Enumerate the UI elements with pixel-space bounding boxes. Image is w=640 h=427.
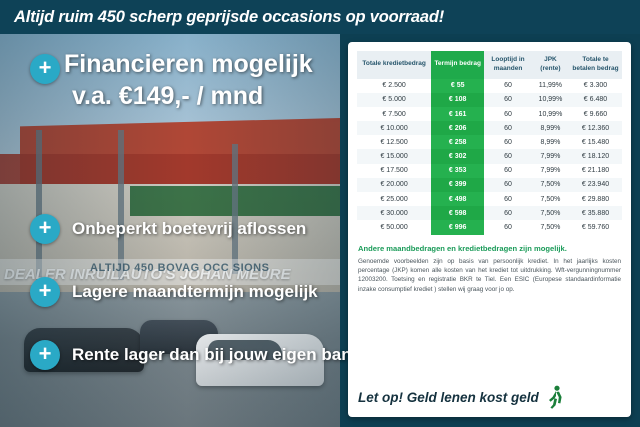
table-cell: 60: [484, 121, 532, 135]
table-cell: € 59.760: [569, 220, 622, 234]
table-header-row: Totale kredietbedrag Termijn bedrag Loop…: [357, 51, 622, 79]
table-cell: € 2.500: [357, 79, 431, 93]
top-banner-text: Altijd ruim 450 scherp geprijsde occasio…: [0, 8, 444, 27]
warning-text: Let op! Geld lenen kost geld: [358, 390, 539, 405]
table-cell: € 161: [431, 107, 484, 121]
table-cell: 7,50%: [532, 206, 569, 220]
table-cell: € 18.120: [569, 149, 622, 163]
table-cell: 60: [484, 93, 532, 107]
bullet-label: Lagere maandtermijn mogelijk: [72, 282, 318, 302]
table-cell: € 35.880: [569, 206, 622, 220]
table-row: € 25.000€ 498607,50%€ 29.880: [357, 192, 622, 206]
bullet-label: Onbeperkt boetevrij aflossen: [72, 219, 306, 239]
table-cell: 7,99%: [532, 164, 569, 178]
table-cell: € 15.000: [357, 149, 431, 163]
table-cell: € 3.300: [569, 79, 622, 93]
left-content: + Financieren mogelijk v.a. €149,- / mnd…: [0, 34, 345, 427]
rates-panel: Totale kredietbedrag Termijn bedrag Loop…: [348, 42, 631, 417]
table-cell: € 5.000: [357, 93, 431, 107]
table-cell: € 7.500: [357, 107, 431, 121]
table-cell: 60: [484, 107, 532, 121]
table-row: € 10.000€ 206608,99%€ 12.360: [357, 121, 622, 135]
table-cell: € 55: [431, 79, 484, 93]
plus-icon: +: [30, 54, 60, 84]
rates-table-body: € 2.500€ 556011,99%€ 3.300€ 5.000€ 10860…: [357, 79, 622, 235]
bullet-item-1: + Lagere maandtermijn mogelijk: [30, 277, 318, 307]
table-row: € 5.000€ 1086010,99%€ 6.480: [357, 93, 622, 107]
column-header-duration: Looptijd in maanden: [484, 51, 532, 79]
table-cell: € 10.000: [357, 121, 431, 135]
table-row: € 7.500€ 1616010,99%€ 9.660: [357, 107, 622, 121]
walking-person-icon: [545, 385, 565, 409]
note-body: Genoemde voorbeelden zijn op basis van p…: [358, 257, 621, 295]
table-row: € 15.000€ 302607,99%€ 18.120: [357, 149, 622, 163]
table-cell: 60: [484, 220, 532, 234]
table-cell: 7,50%: [532, 220, 569, 234]
note-title: Andere maandbedragen en kredietbedragen …: [358, 244, 621, 253]
column-header-jkp: JPK (rente): [532, 51, 569, 79]
ad-banner: Altijd ruim 450 scherp geprijsde occasio…: [0, 0, 640, 427]
table-cell: 7,50%: [532, 178, 569, 192]
table-cell: € 353: [431, 164, 484, 178]
table-cell: 60: [484, 149, 532, 163]
table-row: € 30.000€ 598607,50%€ 35.880: [357, 206, 622, 220]
plus-icon: +: [30, 277, 60, 307]
plus-icon: +: [30, 340, 60, 370]
table-cell: € 399: [431, 178, 484, 192]
headline-row: +: [30, 54, 60, 84]
top-banner: Altijd ruim 450 scherp geprijsde occasio…: [0, 0, 640, 34]
table-cell: € 9.660: [569, 107, 622, 121]
table-cell: € 25.000: [357, 192, 431, 206]
table-cell: 10,99%: [532, 107, 569, 121]
bullet-item-0: + Onbeperkt boetevrij aflossen: [30, 214, 306, 244]
table-cell: 60: [484, 135, 532, 149]
table-row: € 12.500€ 258608,99%€ 15.480: [357, 135, 622, 149]
table-cell: 60: [484, 192, 532, 206]
table-row: € 17.500€ 353607,99%€ 21.180: [357, 164, 622, 178]
table-cell: 8,99%: [532, 135, 569, 149]
table-cell: € 17.500: [357, 164, 431, 178]
bullet-item-2: + Rente lager dan bij jouw eigen bank: [30, 340, 361, 370]
page-title: Financieren mogelijk: [64, 50, 313, 79]
table-cell: € 996: [431, 220, 484, 234]
column-header-total-payable: Totale te betalen bedrag: [569, 51, 622, 79]
table-cell: € 498: [431, 192, 484, 206]
table-cell: 11,99%: [532, 79, 569, 93]
table-cell: 7,50%: [532, 192, 569, 206]
table-row: € 20.000€ 399607,50%€ 23.940: [357, 178, 622, 192]
table-cell: € 50.000: [357, 220, 431, 234]
table-cell: 8,99%: [532, 121, 569, 135]
table-row: € 2.500€ 556011,99%€ 3.300: [357, 79, 622, 93]
table-cell: 60: [484, 178, 532, 192]
table-cell: € 206: [431, 121, 484, 135]
table-cell: 10,99%: [532, 93, 569, 107]
table-cell: € 12.360: [569, 121, 622, 135]
table-cell: 7,99%: [532, 149, 569, 163]
table-cell: 60: [484, 79, 532, 93]
table-cell: € 258: [431, 135, 484, 149]
table-cell: 60: [484, 164, 532, 178]
table-cell: € 598: [431, 206, 484, 220]
column-header-term-amount: Termijn bedrag: [431, 51, 484, 79]
rates-table: Totale kredietbedrag Termijn bedrag Loop…: [357, 51, 622, 235]
table-cell: 60: [484, 206, 532, 220]
page-subtitle: v.a. €149,- / mnd: [72, 82, 263, 111]
table-row: € 50.000€ 996607,50%€ 59.760: [357, 220, 622, 234]
bullet-label: Rente lager dan bij jouw eigen bank: [72, 345, 361, 365]
table-cell: € 29.880: [569, 192, 622, 206]
warning-row: Let op! Geld lenen kost geld: [358, 385, 621, 409]
plus-icon: +: [30, 214, 60, 244]
table-cell: € 21.180: [569, 164, 622, 178]
table-cell: € 108: [431, 93, 484, 107]
table-cell: € 30.000: [357, 206, 431, 220]
table-cell: € 23.940: [569, 178, 622, 192]
table-cell: € 6.480: [569, 93, 622, 107]
table-cell: € 12.500: [357, 135, 431, 149]
table-cell: € 20.000: [357, 178, 431, 192]
table-cell: € 15.480: [569, 135, 622, 149]
column-header-total-credit: Totale kredietbedrag: [357, 51, 431, 79]
table-cell: € 302: [431, 149, 484, 163]
